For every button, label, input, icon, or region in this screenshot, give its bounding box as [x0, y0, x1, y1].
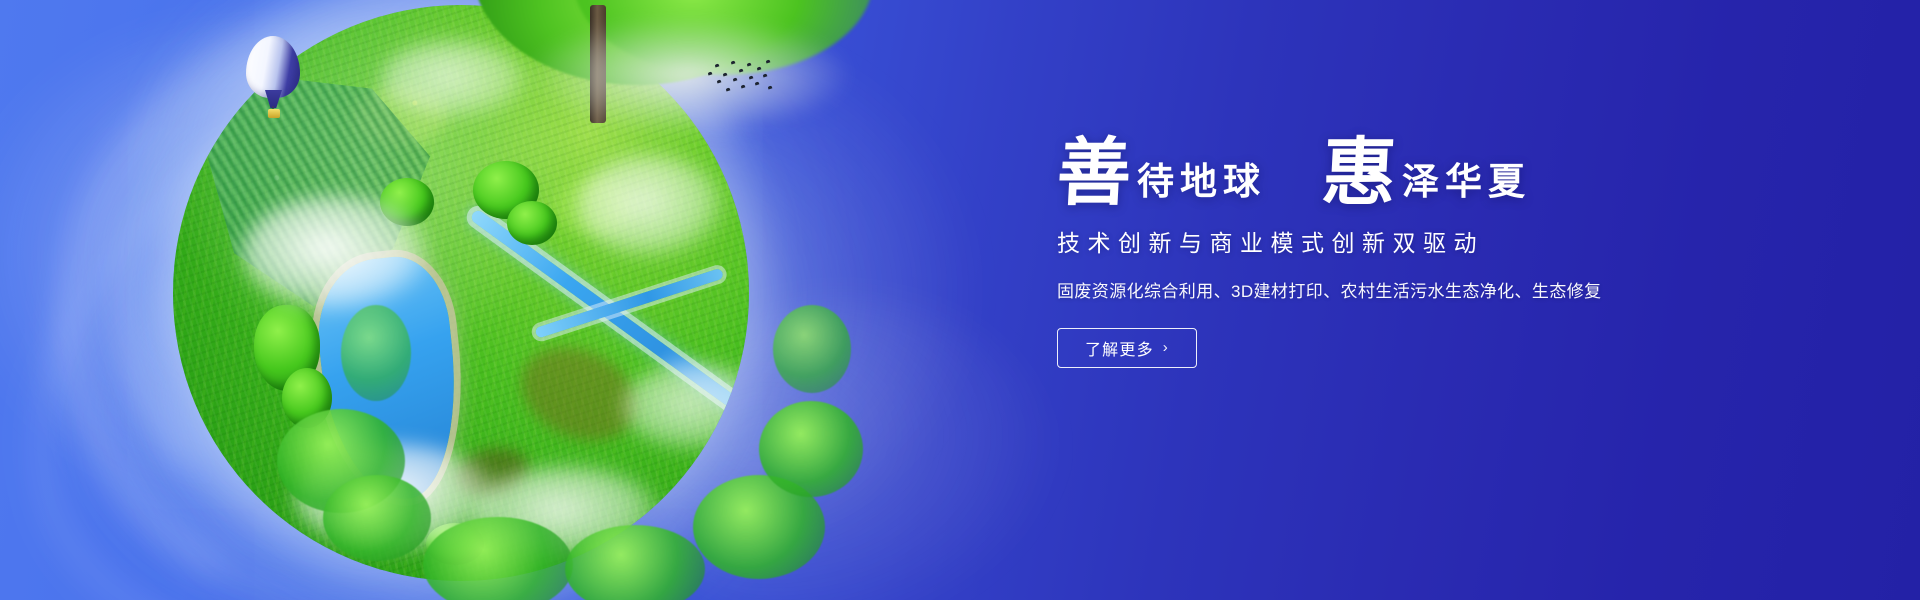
rim-tree: [323, 475, 431, 561]
balloon-envelope: [246, 36, 300, 98]
learn-more-button[interactable]: 了解更多 ›: [1057, 328, 1197, 368]
hero-banner: 善 待地球 惠 泽华夏 技术创新与商业模式创新双驱动 固废资源化综合利用、3D建…: [0, 0, 1920, 600]
rim-tree: [759, 401, 863, 497]
tree-clump: [507, 201, 557, 245]
surface-cloud: [380, 40, 530, 120]
tree-mist: [523, 15, 853, 135]
chevron-right-icon: ›: [1163, 339, 1169, 356]
headline-brush-char-2: 惠: [1320, 140, 1398, 210]
balloon-basket: [268, 109, 280, 118]
rim-tree: [773, 305, 851, 393]
hero-subtitle: 技术创新与商业模式创新双驱动: [1057, 224, 1697, 258]
headline-rest-2: 泽华夏: [1402, 164, 1531, 210]
bird-flock-icon: [706, 58, 772, 100]
headline-brush-char-1: 善: [1055, 140, 1133, 210]
surface-cloud: [576, 155, 726, 259]
hot-air-balloon-icon: [246, 36, 300, 122]
rim-tree: [341, 305, 411, 401]
hero-copy: 善 待地球 惠 泽华夏 技术创新与商业模式创新双驱动 固废资源化综合利用、3D建…: [1057, 140, 1697, 368]
headline-rest-1: 待地球: [1137, 164, 1266, 210]
learn-more-label: 了解更多: [1085, 336, 1154, 360]
hero-services-list: 固废资源化综合利用、3D建材打印、农村生活污水生态净化、生态修复: [1057, 277, 1697, 302]
page-title: 善 待地球 惠 泽华夏: [1057, 140, 1697, 210]
surface-cloud: [242, 195, 432, 313]
